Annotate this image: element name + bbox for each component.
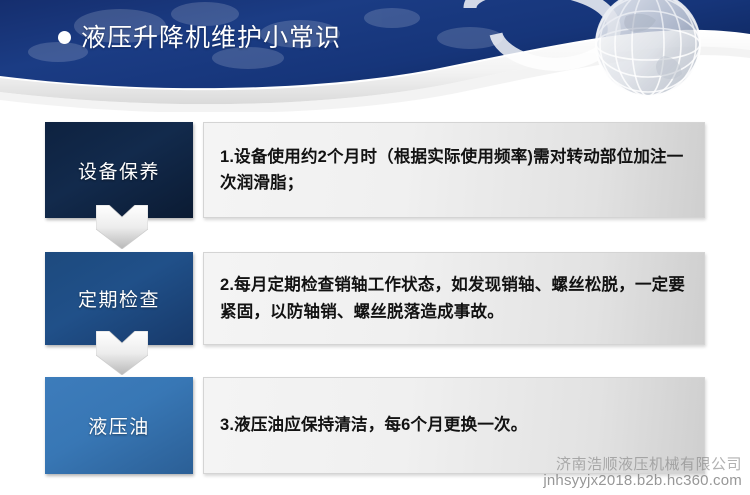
page-title-text: 液压升降机维护小常识 — [81, 18, 341, 54]
chevron-down-arrow-icon-2 — [96, 331, 148, 375]
label-text: 设备保养 — [78, 157, 160, 184]
text-panel-1: 1.设备使用约2个月时（根据实际使用频率)需对转动部位加注一次润滑脂； — [203, 122, 705, 218]
label-box-equipment-maintenance[interactable]: 设备保养 — [45, 122, 193, 218]
body-text: 3.液压油应保持清洁，每6个月更换一次。 — [220, 412, 527, 438]
label-box-hydraulic-oil[interactable]: 液压油 — [45, 377, 193, 474]
chevron-down-arrow-icon — [96, 205, 148, 249]
label-text: 液压油 — [88, 412, 150, 439]
chevron-down-arrow-icon-1 — [96, 205, 148, 249]
page-title: 液压升降机维护小常识 — [58, 18, 341, 54]
text-panel-3: 3.液压油应保持清洁，每6个月更换一次。 — [203, 377, 705, 474]
content-row-1: 设备保养 1.设备使用约2个月时（根据实际使用频率)需对转动部位加注一次润滑脂； — [45, 122, 705, 218]
chevron-down-arrow-icon — [96, 331, 148, 375]
content-row-3: 液压油 3.液压油应保持清洁，每6个月更换一次。 — [45, 377, 705, 474]
text-panel-2: 2.每月定期检查销轴工作状态，如发现销轴、螺丝松脱，一定要紧固，以防轴销、螺丝脱… — [203, 252, 705, 345]
slide-canvas: 液压升降机维护小常识 设备保养 1.设备使用约2个月时（根据实际使用频率)需对转… — [0, 0, 750, 495]
body-text: 2.每月定期检查销轴工作状态，如发现销轴、螺丝松脱，一定要紧固，以防轴销、螺丝脱… — [220, 272, 690, 324]
content-rows: 设备保养 1.设备使用约2个月时（根据实际使用频率)需对转动部位加注一次润滑脂； — [0, 0, 750, 495]
bullet-dot-icon — [58, 31, 71, 44]
body-text: 1.设备使用约2个月时（根据实际使用频率)需对转动部位加注一次润滑脂； — [220, 144, 690, 196]
label-text: 定期检查 — [78, 285, 160, 312]
